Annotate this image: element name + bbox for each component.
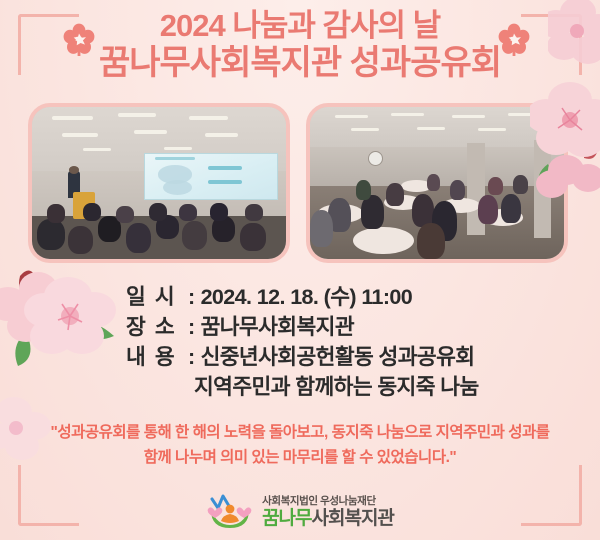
photo-dining-image: [310, 107, 564, 259]
photo-presentation: [28, 103, 290, 263]
footer-logo: 사회복지법인 우성나눔재단 꿈나무사회복지관: [0, 488, 600, 536]
detail-colon-content: :: [188, 342, 195, 372]
detail-colon-location: :: [188, 312, 195, 342]
detail-label-location-b: 소: [155, 312, 174, 342]
detail-label-content: 내 용: [126, 342, 188, 372]
photo-presentation-image: [32, 107, 286, 259]
photo-dining: [306, 103, 568, 263]
detail-label-location-a: 장: [126, 312, 145, 342]
organization-center-name-dark: 사회복지관: [312, 508, 394, 529]
detail-row-date: 일 시 : 2024. 12. 18. (수) 11:00: [126, 282, 479, 312]
organization-center-name-green: 꿈나무: [262, 508, 311, 529]
quote-line-2: 함께 나누며 의미 있는 마무리를 할 수 있었습니다.": [0, 445, 600, 470]
organization-logo-text: 사회복지법인 우성나눔재단 꿈나무사회복지관: [262, 496, 394, 529]
detail-label-location: 장 소: [126, 312, 188, 342]
detail-row-content: 내 용 : 신중년사회공헌활동 성과공유회: [126, 342, 479, 372]
detail-label-content-b: 용: [155, 342, 174, 372]
detail-label-date-b: 시: [155, 282, 174, 312]
event-quote: "성과공유회를 통해 한 해의 노력을 돌아보고, 동지죽 나눔으로 지역주민과…: [0, 420, 600, 470]
organization-center-name: 꿈나무사회복지관: [262, 509, 394, 528]
detail-label-date-a: 일: [126, 282, 145, 312]
event-poster: 2024 나눔과 감사의 날 꿈나무사회복지관 성과공유회: [0, 0, 600, 540]
quote-line-1: "성과공유회를 통해 한 해의 노력을 돌아보고, 동지죽 나눔으로 지역주민과…: [0, 420, 600, 445]
detail-label-content-a: 내: [126, 342, 145, 372]
detail-value-content-line2: 지역주민과 함께하는 동지죽 나눔: [126, 372, 479, 402]
detail-row-location: 장 소 : 꿈나무사회복지관: [126, 312, 479, 342]
detail-value-location: 꿈나무사회복지관: [201, 312, 354, 342]
detail-colon-date: :: [188, 282, 195, 312]
flower-icon-right: [497, 22, 531, 61]
flower-icon-left: [62, 22, 96, 61]
detail-value-date: 2024. 12. 18. (수) 11:00: [201, 282, 413, 312]
detail-value-content: 신중년사회공헌활동 성과공유회: [201, 342, 475, 372]
organization-logo-icon: [206, 492, 254, 532]
organization-foundation-name: 사회복지법인 우성나눔재단: [262, 496, 394, 507]
detail-label-date: 일 시: [126, 282, 188, 312]
event-details: 일 시 : 2024. 12. 18. (수) 11:00 장 소 : 꿈나무사…: [126, 282, 479, 402]
photo-strip: [0, 103, 600, 271]
